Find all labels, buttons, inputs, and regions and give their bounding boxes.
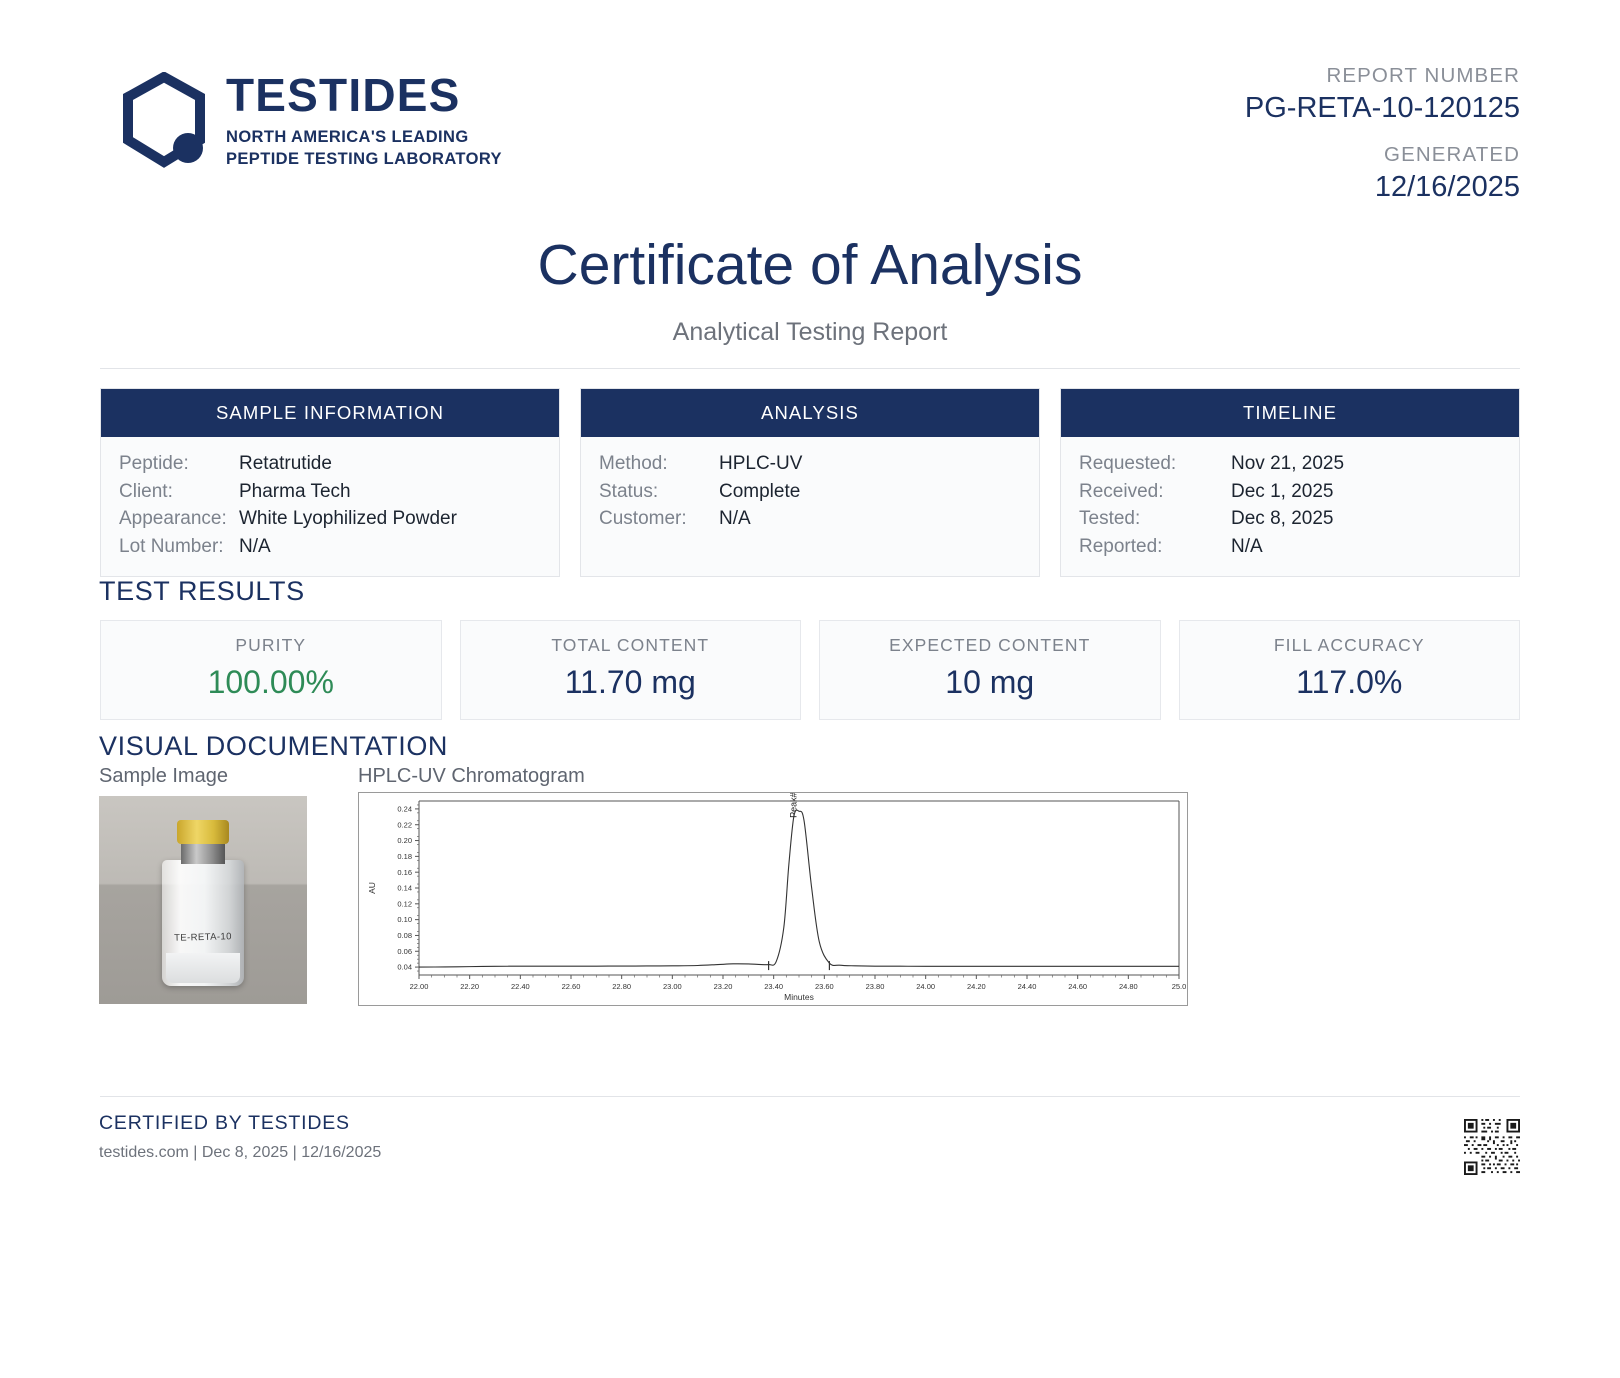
chromatogram-label: HPLC-UV Chromatogram: [358, 765, 585, 788]
brand-tagline-line1: NORTH AMERICA'S LEADING: [226, 127, 502, 149]
vial-body: [162, 860, 244, 986]
svg-text:25.0: 25.0: [1172, 982, 1187, 991]
svg-text:24.80: 24.80: [1119, 982, 1138, 991]
info-value: HPLC-UV: [719, 450, 802, 478]
card-body: Peptide: Retatrutide Client: Pharma Tech…: [101, 437, 559, 576]
info-row: Lot Number: N/A: [119, 533, 559, 561]
hplc-chromatogram: 0.040.060.080.100.120.140.160.180.200.22…: [358, 792, 1188, 1006]
brand-tagline: NORTH AMERICA'S LEADING PEPTIDE TESTING …: [226, 127, 502, 171]
svg-text:24.60: 24.60: [1068, 982, 1087, 991]
certified-by-text: CERTIFIED BY TESTIDES: [99, 1112, 350, 1135]
test-results-heading: TEST RESULTS: [99, 576, 305, 607]
sample-image-label: Sample Image: [99, 765, 228, 788]
svg-text:22.20: 22.20: [460, 982, 479, 991]
sample-photo: TE-RETA-10: [99, 796, 307, 1004]
svg-text:0.22: 0.22: [397, 820, 412, 829]
info-key: Requested:: [1079, 450, 1231, 478]
svg-text:0.10: 0.10: [397, 915, 412, 924]
brand-block: TESTIDES NORTH AMERICA'S LEADING PEPTIDE…: [120, 72, 502, 171]
footer-meta-text: testides.com | Dec 8, 2025 | 12/16/2025: [99, 1144, 381, 1162]
svg-text:23.20: 23.20: [714, 982, 733, 991]
chart-x-axis-label: Minutes: [784, 992, 814, 1002]
visual-documentation-heading: VISUAL DOCUMENTATION: [99, 731, 448, 762]
header-meta: REPORT NUMBER PG-RETA-10-120125 GENERATE…: [1245, 62, 1520, 221]
svg-text:0.20: 0.20: [397, 836, 412, 845]
info-value: Dec 8, 2025: [1231, 505, 1333, 533]
info-key: Customer:: [599, 505, 719, 533]
info-row: Client: Pharma Tech: [119, 478, 559, 506]
info-key: Status:: [599, 478, 719, 506]
peak-annotation-label: Peak#1 - 23.479: [789, 793, 799, 818]
chromatogram-trace: [419, 810, 1179, 967]
card-body: Method: HPLC-UV Status: Complete Custome…: [581, 437, 1039, 549]
info-row: Requested: Nov 21, 2025: [1079, 450, 1519, 478]
title-divider: [100, 368, 1520, 369]
info-row: Reported: N/A: [1079, 533, 1519, 561]
info-value: Dec 1, 2025: [1231, 478, 1333, 506]
chart-y-ticks: 0.040.060.080.100.120.140.160.180.200.22…: [397, 805, 419, 972]
vial-graphic: TE-RETA-10: [162, 814, 244, 986]
metric-label: FILL ACCURACY: [1180, 635, 1520, 656]
chart-axes: [419, 801, 1179, 975]
footer-divider: [100, 1096, 1520, 1097]
svg-text:24.00: 24.00: [916, 982, 935, 991]
svg-text:22.00: 22.00: [410, 982, 429, 991]
vial-label-text: TE-RETA-10: [168, 931, 238, 944]
test-results-metrics: PURITY 100.00% TOTAL CONTENT 11.70 mg EX…: [100, 620, 1520, 720]
info-key: Received:: [1079, 478, 1231, 506]
info-key: Client:: [119, 478, 239, 506]
svg-text:23.00: 23.00: [663, 982, 682, 991]
metric-value: 11.70 mg: [461, 664, 801, 701]
info-row: Status: Complete: [599, 478, 1039, 506]
brand-text: TESTIDES NORTH AMERICA'S LEADING PEPTIDE…: [226, 72, 502, 171]
info-value: Complete: [719, 478, 800, 506]
metric-label: PURITY: [101, 635, 441, 656]
metric-label: TOTAL CONTENT: [461, 635, 801, 656]
brand-name: TESTIDES: [226, 72, 502, 118]
generated-label: GENERATED: [1245, 141, 1520, 169]
metric-fill-accuracy: FILL ACCURACY 117.0%: [1179, 620, 1521, 720]
info-row: Peptide: Retatrutide: [119, 450, 559, 478]
metric-purity: PURITY 100.00%: [100, 620, 442, 720]
card-body: Requested: Nov 21, 2025 Received: Dec 1,…: [1061, 437, 1519, 576]
report-number-label: REPORT NUMBER: [1245, 62, 1520, 90]
svg-text:24.40: 24.40: [1018, 982, 1037, 991]
metric-value: 10 mg: [820, 664, 1160, 701]
chromatogram-svg: 0.040.060.080.100.120.140.160.180.200.22…: [359, 793, 1187, 1005]
svg-text:0.06: 0.06: [397, 947, 412, 956]
page-subtitle: Analytical Testing Report: [0, 318, 1620, 347]
svg-text:0.04: 0.04: [397, 963, 412, 972]
svg-text:22.40: 22.40: [511, 982, 530, 991]
report-number-value: PG-RETA-10-120125: [1245, 90, 1520, 128]
metric-value: 117.0%: [1180, 664, 1520, 701]
info-key: Tested:: [1079, 505, 1231, 533]
card-heading: SAMPLE INFORMATION: [101, 389, 559, 437]
card-analysis: ANALYSIS Method: HPLC-UV Status: Complet…: [580, 388, 1040, 577]
metric-total-content: TOTAL CONTENT 11.70 mg: [460, 620, 802, 720]
svg-text:23.40: 23.40: [764, 982, 783, 991]
info-value: Nov 21, 2025: [1231, 450, 1344, 478]
svg-text:24.20: 24.20: [967, 982, 986, 991]
svg-text:0.18: 0.18: [397, 852, 412, 861]
info-row: Customer: N/A: [599, 505, 1039, 533]
card-timeline: TIMELINE Requested: Nov 21, 2025 Receive…: [1060, 388, 1520, 577]
svg-text:0.24: 0.24: [397, 805, 412, 814]
generated-value: 12/16/2025: [1245, 169, 1520, 207]
metric-label: EXPECTED CONTENT: [820, 635, 1160, 656]
vial-cap: [177, 820, 229, 844]
brand-tagline-line2: PEPTIDE TESTING LABORATORY: [226, 149, 502, 171]
info-value: N/A: [719, 505, 751, 533]
svg-text:23.80: 23.80: [866, 982, 885, 991]
info-key: Lot Number:: [119, 533, 239, 561]
peak-integration-marks: [769, 961, 830, 970]
info-value: Pharma Tech: [239, 478, 351, 506]
svg-text:0.16: 0.16: [397, 868, 412, 877]
info-key: Reported:: [1079, 533, 1231, 561]
page-header: TESTIDES NORTH AMERICA'S LEADING PEPTIDE…: [100, 62, 1520, 212]
chart-x-ticks: 22.0022.2022.4022.6022.8023.0023.2023.40…: [410, 975, 1187, 991]
metric-value: 100.00%: [101, 664, 441, 701]
vial-powder: [166, 953, 240, 983]
info-key: Method:: [599, 450, 719, 478]
info-cards: SAMPLE INFORMATION Peptide: Retatrutide …: [100, 388, 1520, 577]
svg-text:23.60: 23.60: [815, 982, 834, 991]
info-value: N/A: [1231, 533, 1263, 561]
info-key: Appearance:: [119, 505, 239, 533]
card-heading: TIMELINE: [1061, 389, 1519, 437]
svg-text:22.60: 22.60: [562, 982, 581, 991]
svg-text:0.08: 0.08: [397, 931, 412, 940]
card-sample-information: SAMPLE INFORMATION Peptide: Retatrutide …: [100, 388, 560, 577]
info-key: Peptide:: [119, 450, 239, 478]
qr-code-icon: [1464, 1119, 1520, 1175]
chart-y-axis-label: AU: [367, 882, 377, 894]
metric-expected-content: EXPECTED CONTENT 10 mg: [819, 620, 1161, 720]
info-row: Appearance: White Lyophilized Powder: [119, 505, 559, 533]
hexagon-logo-icon: [120, 72, 208, 170]
info-row: Method: HPLC-UV: [599, 450, 1039, 478]
card-heading: ANALYSIS: [581, 389, 1039, 437]
coa-page: TESTIDES NORTH AMERICA'S LEADING PEPTIDE…: [0, 0, 1620, 1378]
page-title: Certificate of Analysis: [0, 232, 1620, 298]
svg-text:22.80: 22.80: [612, 982, 631, 991]
info-value: N/A: [239, 533, 271, 561]
svg-text:0.14: 0.14: [397, 884, 412, 893]
info-row: Tested: Dec 8, 2025: [1079, 505, 1519, 533]
info-value: White Lyophilized Powder: [239, 505, 457, 533]
svg-text:0.12: 0.12: [397, 899, 412, 908]
info-row: Received: Dec 1, 2025: [1079, 478, 1519, 506]
info-value: Retatrutide: [239, 450, 332, 478]
